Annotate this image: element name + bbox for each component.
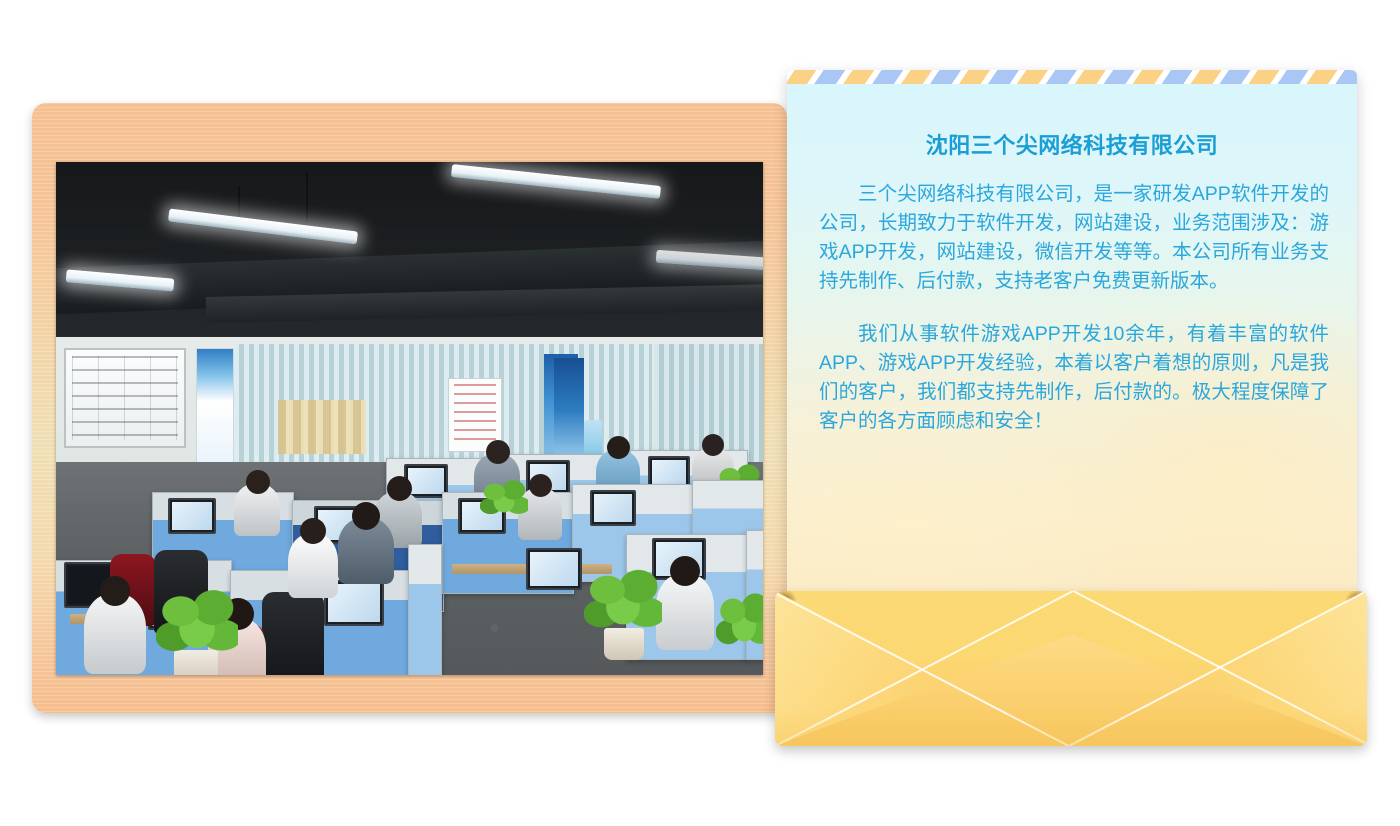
company-title: 沈阳三个尖网络科技有限公司 [787,128,1357,160]
photo-cubicle [408,544,442,675]
photo-employee-head [100,576,130,606]
office-photo-frame [32,103,787,713]
photo-monitor [168,498,216,534]
airmail-stripe-border [787,70,1357,84]
photo-plant [156,586,238,658]
letter-paragraph-1: 三个尖网络科技有限公司，是一家研发APP软件开发的公司，长期致力于软件开发，网站… [819,180,1329,296]
photo-employee-head [702,434,724,456]
photo-whiteboard [64,348,186,448]
photo-roll-banner [554,358,584,462]
photo-employee-head [486,440,510,464]
photo-monitor [526,548,582,590]
letter-paragraph-2: 我们从事软件游戏APP开发10余年，有着丰富的软件APP、游戏APP开发经验，本… [819,320,1329,436]
letter-body: 三个尖网络科技有限公司，是一家研发APP软件开发的公司，长期致力于软件开发，网站… [819,180,1329,436]
photo-bookshelf [278,400,366,454]
photo-light-hanger [306,172,308,222]
office-photo-image [56,162,763,675]
photo-employee [84,594,146,674]
photo-employee-head [529,474,552,497]
photo-wall-poster [196,348,234,466]
photo-plant [584,566,662,634]
photo-plant [480,478,528,518]
photo-employee-head [387,476,412,501]
photo-employee-head [352,502,380,530]
photo-employee-head [670,556,700,586]
photo-employee-head [246,470,270,494]
envelope-pocket [775,591,1367,746]
letter-card: 沈阳三个尖网络科技有限公司 三个尖网络科技有限公司，是一家研发APP软件开发的公… [787,70,1357,680]
photo-plant [716,590,763,650]
envelope-bottom-sheen [775,708,1367,746]
photo-employee-head [607,436,630,459]
photo-monitor [590,490,636,526]
photo-office-chair [262,592,324,675]
photo-employee-head [300,518,326,544]
